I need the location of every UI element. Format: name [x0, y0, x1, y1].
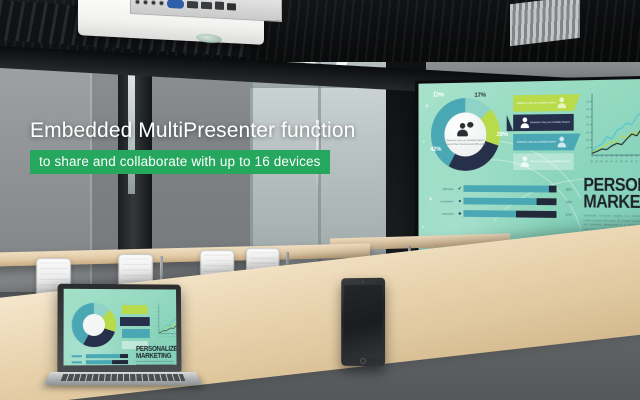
bokeh-dot [423, 140, 425, 142]
bokeh-dot [429, 197, 432, 200]
svg-text:'03: '03 [160, 336, 163, 339]
bar-fill [516, 211, 557, 218]
svg-text:30: 30 [586, 131, 589, 134]
svg-text:'03: '03 [595, 160, 599, 164]
svg-text:'07: '07 [615, 160, 619, 164]
donut-label-4: 42% [430, 146, 441, 153]
svg-text:'04: '04 [600, 160, 604, 164]
laptop-base[interactable] [44, 372, 202, 385]
callout-item: Detective crisp you probably haven't [513, 134, 574, 151]
mini-donut-chart [72, 303, 116, 347]
subline-badge: to share and collaborate with up to 16 d… [30, 150, 330, 174]
audio-jack-icon [159, 0, 164, 5]
bar-label: right plan [433, 186, 456, 190]
donut-center: Detective crisp you probably haven't hea… [444, 112, 486, 156]
svg-text:30: 30 [156, 322, 158, 324]
svg-text:20: 20 [586, 139, 589, 142]
mini-body-text [136, 361, 174, 366]
person-icon [520, 117, 530, 128]
screenshot-root: Detective crisp you probably haven't hea… [0, 0, 640, 400]
svg-text:'08: '08 [172, 336, 175, 339]
person-icon [556, 97, 566, 108]
mini-callout [122, 329, 150, 338]
mini-line-chart: 10203040506070'02'03'04'05'06'07'08'09'1… [154, 301, 177, 341]
mini-callout [120, 317, 150, 326]
donut-center-caption: Detective crisp you probably haven't hea… [444, 139, 486, 147]
donut-label-3: 28% [496, 131, 508, 138]
svg-text:60: 60 [586, 108, 589, 111]
bar-value: 92% [557, 187, 572, 191]
infographic-title: PERSONALIZED MARKETING [583, 177, 640, 211]
bar-row: right plan ✔ 92% [433, 184, 572, 193]
donut-label-2: 17% [474, 92, 485, 99]
laptop-lid: 10203040506070'02'03'04'05'06'07'08'09'1… [57, 284, 181, 373]
svg-text:'04: '04 [163, 336, 166, 339]
infographic-title-line2: MARKETING [583, 193, 640, 211]
svg-text:50: 50 [586, 116, 589, 119]
ceiling-mounted-projector [78, 0, 278, 46]
projector-lens [196, 33, 222, 45]
bar-label: teamwork [433, 211, 456, 215]
svg-text:'05: '05 [605, 160, 609, 164]
audio-jack-icon [143, 0, 148, 4]
laptop-keyboard[interactable] [61, 374, 186, 381]
bar-track [463, 198, 556, 206]
svg-text:20: 20 [156, 326, 158, 328]
callout-item: Detective crisp you probably haven't [513, 94, 574, 112]
callout-item: Detective crisp you probably haven't [513, 114, 574, 131]
laptop-screen: 10203040506070'02'03'04'05'06'07'08'09'1… [63, 289, 176, 366]
bar-value: 79% [557, 200, 572, 204]
bokeh-dot [426, 104, 429, 107]
bar-row: teamwork ♣ 57% [433, 209, 572, 219]
svg-text:10: 10 [156, 329, 158, 331]
ceiling-vent [510, 0, 580, 46]
donut-label-1: 13% [433, 92, 444, 99]
bar-fill [537, 198, 557, 205]
vga-port-icon [167, 0, 184, 8]
mini-title-line2: MARKETING [136, 353, 177, 360]
mini-callout [122, 305, 148, 314]
svg-text:40: 40 [156, 318, 158, 320]
bar-label: connection [433, 199, 456, 203]
check-icon: ✔ [456, 186, 463, 192]
callout-list: Detective crisp you probably haven't Det… [513, 94, 574, 173]
bar-track [463, 185, 556, 192]
svg-text:'02: '02 [158, 336, 161, 339]
mini-bar-label [72, 355, 82, 357]
svg-text:'07: '07 [170, 336, 173, 339]
svg-text:'10: '10 [630, 160, 634, 164]
bar-row: connection ● 79% [433, 196, 572, 206]
bar-fill [549, 186, 557, 193]
circle-icon: ● [456, 198, 463, 204]
audio-jack-icon [135, 0, 140, 4]
front-camera-icon [362, 280, 364, 283]
tablet[interactable] [341, 278, 385, 367]
svg-text:'09: '09 [625, 160, 629, 164]
svg-text:'11: '11 [635, 160, 639, 164]
svg-text:'06: '06 [168, 336, 171, 339]
svg-text:10: 10 [586, 147, 589, 150]
home-button[interactable] [360, 358, 366, 364]
club-icon: ♣ [456, 210, 463, 216]
person-icon [457, 122, 473, 137]
svg-text:40: 40 [586, 124, 589, 127]
subline-wrapper: to share and collaborate with up to 16 d… [30, 150, 330, 174]
svg-text:50: 50 [156, 314, 158, 316]
line-chart: 10203040506070'02'03'04'05'06'07'08'09'1… [581, 89, 640, 169]
bar-track [463, 210, 556, 218]
svg-text:'09: '09 [175, 336, 177, 339]
bar-chart: right plan ✔ 92% connection ● 79% teamwo… [433, 184, 572, 223]
bar-value: 57% [557, 213, 572, 217]
audio-jack-icon [151, 0, 156, 5]
svg-text:70: 70 [156, 307, 158, 309]
usb-port-icon [227, 3, 236, 10]
svg-text:'06: '06 [610, 160, 614, 164]
person-icon [556, 137, 566, 148]
lan-port-icon [215, 1, 224, 9]
bokeh-dot [422, 226, 424, 228]
callout-item: Detective crisp you probably haven't [513, 153, 574, 170]
svg-text:'05: '05 [165, 336, 168, 339]
person-icon [520, 156, 530, 167]
headline: Embedded MultiPresenter function [30, 118, 355, 143]
callout-text: Detective crisp you probably haven't [530, 120, 569, 124]
mini-bar-label [72, 361, 82, 363]
callout-text: Detective crisp you probably haven't [517, 140, 556, 144]
svg-text:60: 60 [156, 311, 158, 313]
callout-text: Detective crisp you probably haven't [530, 160, 569, 164]
callout-text: Detective crisp you probably haven't [517, 101, 556, 105]
mini-bar-fill [120, 354, 128, 358]
mini-infographic-title: PERSONALIZED MARKETING [136, 347, 177, 360]
svg-text:'08: '08 [620, 160, 624, 164]
mini-bar-fill [112, 360, 128, 364]
laptop[interactable]: 10203040506070'02'03'04'05'06'07'08'09'1… [58, 284, 188, 392]
mini-donut-center [83, 314, 105, 336]
svg-text:70: 70 [586, 101, 589, 104]
hdmi-port-icon [187, 1, 198, 9]
overlay-text-block: Embedded MultiPresenter function to shar… [30, 118, 355, 174]
donut-chart: Detective crisp you probably haven't hea… [431, 97, 500, 170]
hdmi-port-icon [201, 1, 212, 9]
line-chart-svg: 10203040506070'02'03'04'05'06'07'08'09'1… [581, 89, 640, 169]
tablet-screen[interactable] [344, 285, 382, 357]
svg-text:'02: '02 [590, 160, 594, 164]
